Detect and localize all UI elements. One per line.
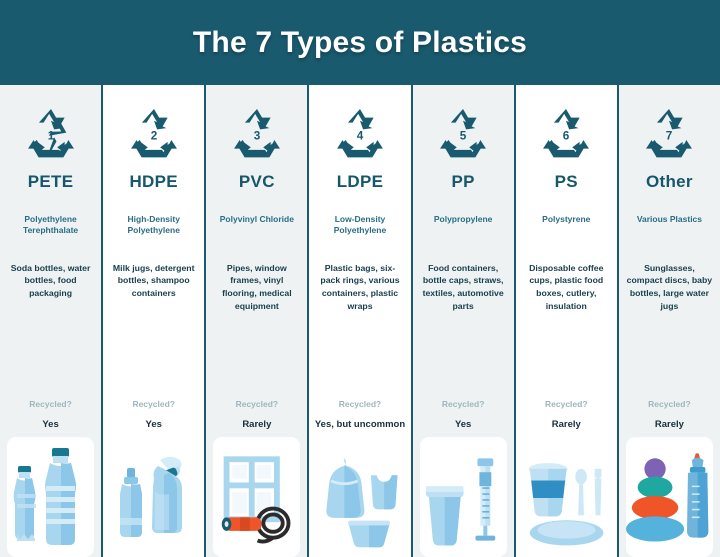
recycle-number: 2 [150, 129, 157, 142]
water-bottles-illustration [7, 437, 94, 557]
recycled-label: Recycled? [309, 399, 410, 411]
plastic-fullname: Polyvinyl Chloride [214, 214, 300, 238]
plastic-fullname: Various Plastics [631, 214, 708, 238]
recycle-number: 7 [666, 129, 673, 142]
plastic-uses: Pipes, window frames, vinyl flooring, me… [206, 262, 307, 312]
recycle-number: 6 [563, 129, 570, 142]
baby-toys-bottle-illustration [626, 437, 713, 557]
recycled-label: Recycled? [516, 399, 617, 411]
plastic-column-hdpe: 2 HDPE High-Density Polyethylene Milk ju… [101, 85, 204, 557]
plastic-column-ldpe: 4 LDPE Low-Density Polyethylene Plastic … [307, 85, 410, 557]
plastic-column-pvc: 3 PVC Polyvinyl Chloride Pipes, window f… [204, 85, 307, 557]
recycled-block: Recycled? Rarely [516, 399, 617, 437]
plastic-uses: Soda bottles, water bottles, food packag… [0, 262, 101, 300]
plastic-bags-illustration [316, 437, 403, 557]
recycled-label: Recycled? [103, 399, 204, 411]
plastic-uses: Milk jugs, detergent bottles, shampoo co… [103, 262, 204, 300]
plastic-column-pp: 5 PP Polypropylene Food containers, bott… [411, 85, 514, 557]
plastic-code: PETE [28, 173, 74, 192]
plastic-code: LDPE [337, 173, 384, 192]
recycled-value: Rarely [619, 419, 720, 431]
recycle-number: 4 [357, 129, 364, 142]
plastic-code: PP [451, 173, 474, 192]
recycled-value: Yes, but uncommon [309, 419, 410, 431]
recycled-value: Yes [0, 419, 101, 431]
infographic-header: The 7 Types of Plastics [0, 0, 720, 85]
recycle-symbol-icon: 1 [20, 99, 82, 171]
coffee-cup-cutlery-illustration [523, 437, 610, 557]
recycled-block: Recycled? Rarely [206, 399, 307, 437]
plastic-code: PVC [239, 173, 275, 192]
recycled-value: Yes [413, 419, 514, 431]
recycled-value: Rarely [516, 419, 617, 431]
cup-syringe-illustration [420, 437, 507, 557]
plastic-fullname: Polypropylene [428, 214, 499, 238]
recycled-block: Recycled? Yes [413, 399, 514, 437]
recycled-label: Recycled? [206, 399, 307, 411]
plastic-uses: Sunglasses, compact discs, baby bottles,… [619, 262, 720, 312]
plastic-fullname: High-Density Polyethylene [103, 214, 204, 238]
plastic-column-other: 7 Other Various Plastics Sunglasses, com… [617, 85, 720, 557]
recycled-label: Recycled? [619, 399, 720, 411]
recycle-symbol-icon: 7 [638, 99, 700, 171]
plastics-infographic: The 7 Types of Plastics 1 [0, 0, 720, 557]
plastic-uses: Disposable coffee cups, plastic food box… [516, 262, 617, 312]
recycle-number: 1 [47, 129, 54, 142]
plastic-fullname: Polystyrene [536, 214, 596, 238]
window-frame-pipe-illustration [213, 437, 300, 557]
plastic-fullname: Polyethylene Terephthalate [0, 214, 101, 238]
spray-bottle-illustration [110, 437, 197, 557]
recycle-symbol-icon: 2 [123, 99, 185, 171]
recycle-symbol-icon: 5 [432, 99, 494, 171]
recycle-number: 3 [254, 129, 261, 142]
plastic-uses: Food containers, bottle caps, straws, te… [413, 262, 514, 312]
plastic-column-pete: 1 PETE Polyethylene Terephthalate Soda b… [0, 85, 101, 557]
recycled-block: Recycled? Yes, but uncommon [309, 399, 410, 437]
page-title: The 7 Types of Plastics [193, 26, 527, 60]
plastic-code: Other [646, 173, 693, 192]
recycled-block: Recycled? Yes [103, 399, 204, 437]
recycle-symbol-icon: 4 [329, 99, 391, 171]
plastic-code: PS [555, 173, 578, 192]
plastic-code: HDPE [129, 173, 177, 192]
recycled-block: Recycled? Rarely [619, 399, 720, 437]
plastic-types-grid: 1 PETE Polyethylene Terephthalate Soda b… [0, 85, 720, 557]
recycle-symbol-icon: 6 [535, 99, 597, 171]
recycle-symbol-icon: 3 [226, 99, 288, 171]
recycled-label: Recycled? [413, 399, 514, 411]
plastic-column-ps: 6 PS Polystyrene Disposable coffee cups,… [514, 85, 617, 557]
recycled-value: Rarely [206, 419, 307, 431]
recycled-value: Yes [103, 419, 204, 431]
plastic-uses: Plastic bags, six-pack rings, various co… [309, 262, 410, 312]
plastic-fullname: Low-Density Polyethylene [309, 214, 410, 238]
recycled-block: Recycled? Yes [0, 399, 101, 437]
recycle-number: 5 [460, 129, 467, 142]
recycled-label: Recycled? [0, 399, 101, 411]
